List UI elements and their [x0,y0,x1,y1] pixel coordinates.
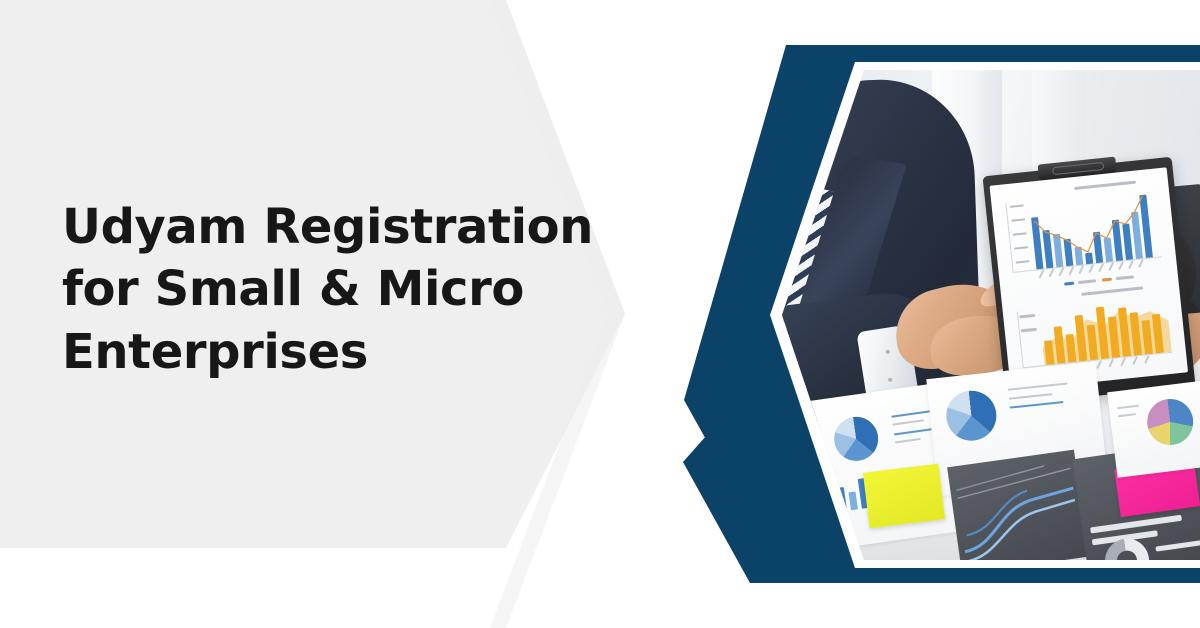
photo-yellow-sticky-note [863,464,945,529]
photo-legend-label [1116,275,1134,280]
photo-chart-y-tick [1016,260,1030,263]
photo-x-tick-label [1120,357,1126,366]
photo-chart-y-tick [1013,232,1027,235]
photo-x-tick-label [1144,355,1150,364]
hero-photo [782,70,1200,560]
photo-paper-line [895,438,921,444]
photo-x-tick-label [1088,264,1094,273]
photo-chart-plot-area [1027,187,1162,270]
photo-pie-chart [944,388,999,443]
photo-cuff-button [885,350,890,355]
photo-chart-y-axis [1005,202,1013,272]
photo-x-tick-label [1128,260,1134,269]
photo-x-tick-label [1039,269,1045,278]
photo-blue-bar-chart [1005,181,1163,282]
photo-panel-bar [1090,515,1182,534]
photo-x-tick-label [1132,356,1138,365]
photo-paper-line [1118,413,1136,417]
photo-x-tick-label [1138,259,1144,268]
photo-paper-line [1010,401,1064,409]
photo-x-tick-label [1068,266,1074,275]
photo-dark-chart-panel [947,450,1089,560]
photo-x-tick-label [1108,359,1114,368]
photo-chart-y-tick [1019,314,1035,319]
photo-legend-swatch [1064,282,1074,286]
photo-paper-line [1117,405,1139,410]
photo-chart-y-tick [1014,246,1028,249]
photo-paper-line [1009,393,1053,400]
photo-x-tick-label [1078,265,1084,274]
photo-legend-swatch [1102,278,1112,282]
photo-chart-y-tick [1021,328,1037,333]
photo-x-tick-label [1098,263,1104,272]
photo-paper-line [891,410,935,418]
photo-x-tick-label [1118,261,1124,270]
photo-x-tick-label [1049,268,1055,277]
photo-clipboard-paper [990,167,1189,390]
photo-x-tick-label [1096,360,1102,369]
photo-x-tick-label [1059,267,1065,276]
photo-trend-line [1027,187,1162,270]
photo-chart-y-axis [1017,312,1024,368]
photo-report-paper-corner [1107,380,1200,478]
photo-chart-y-tick [1010,204,1024,207]
photo-chart-y-tick [1011,218,1025,221]
photo-panel-bar [1155,540,1200,551]
photo-pie-chart [831,414,881,464]
photo-paper-bar [849,491,858,510]
photo-paper-line [1008,382,1068,390]
photo-chart-title-line [1081,286,1143,295]
photo-x-tick-label [1108,262,1114,271]
photo-paper-line [892,419,924,425]
photo-dark-panel-lines [947,450,1089,560]
banner-canvas: Udyam Registration for Small & Micro Ent… [0,0,1200,628]
photo-multicolor-pie-chart [1145,396,1196,447]
photo-legend-label [1078,279,1096,284]
page-title: Udyam Registration for Small & Micro Ent… [62,196,602,383]
photo-cuff-button [888,378,893,383]
